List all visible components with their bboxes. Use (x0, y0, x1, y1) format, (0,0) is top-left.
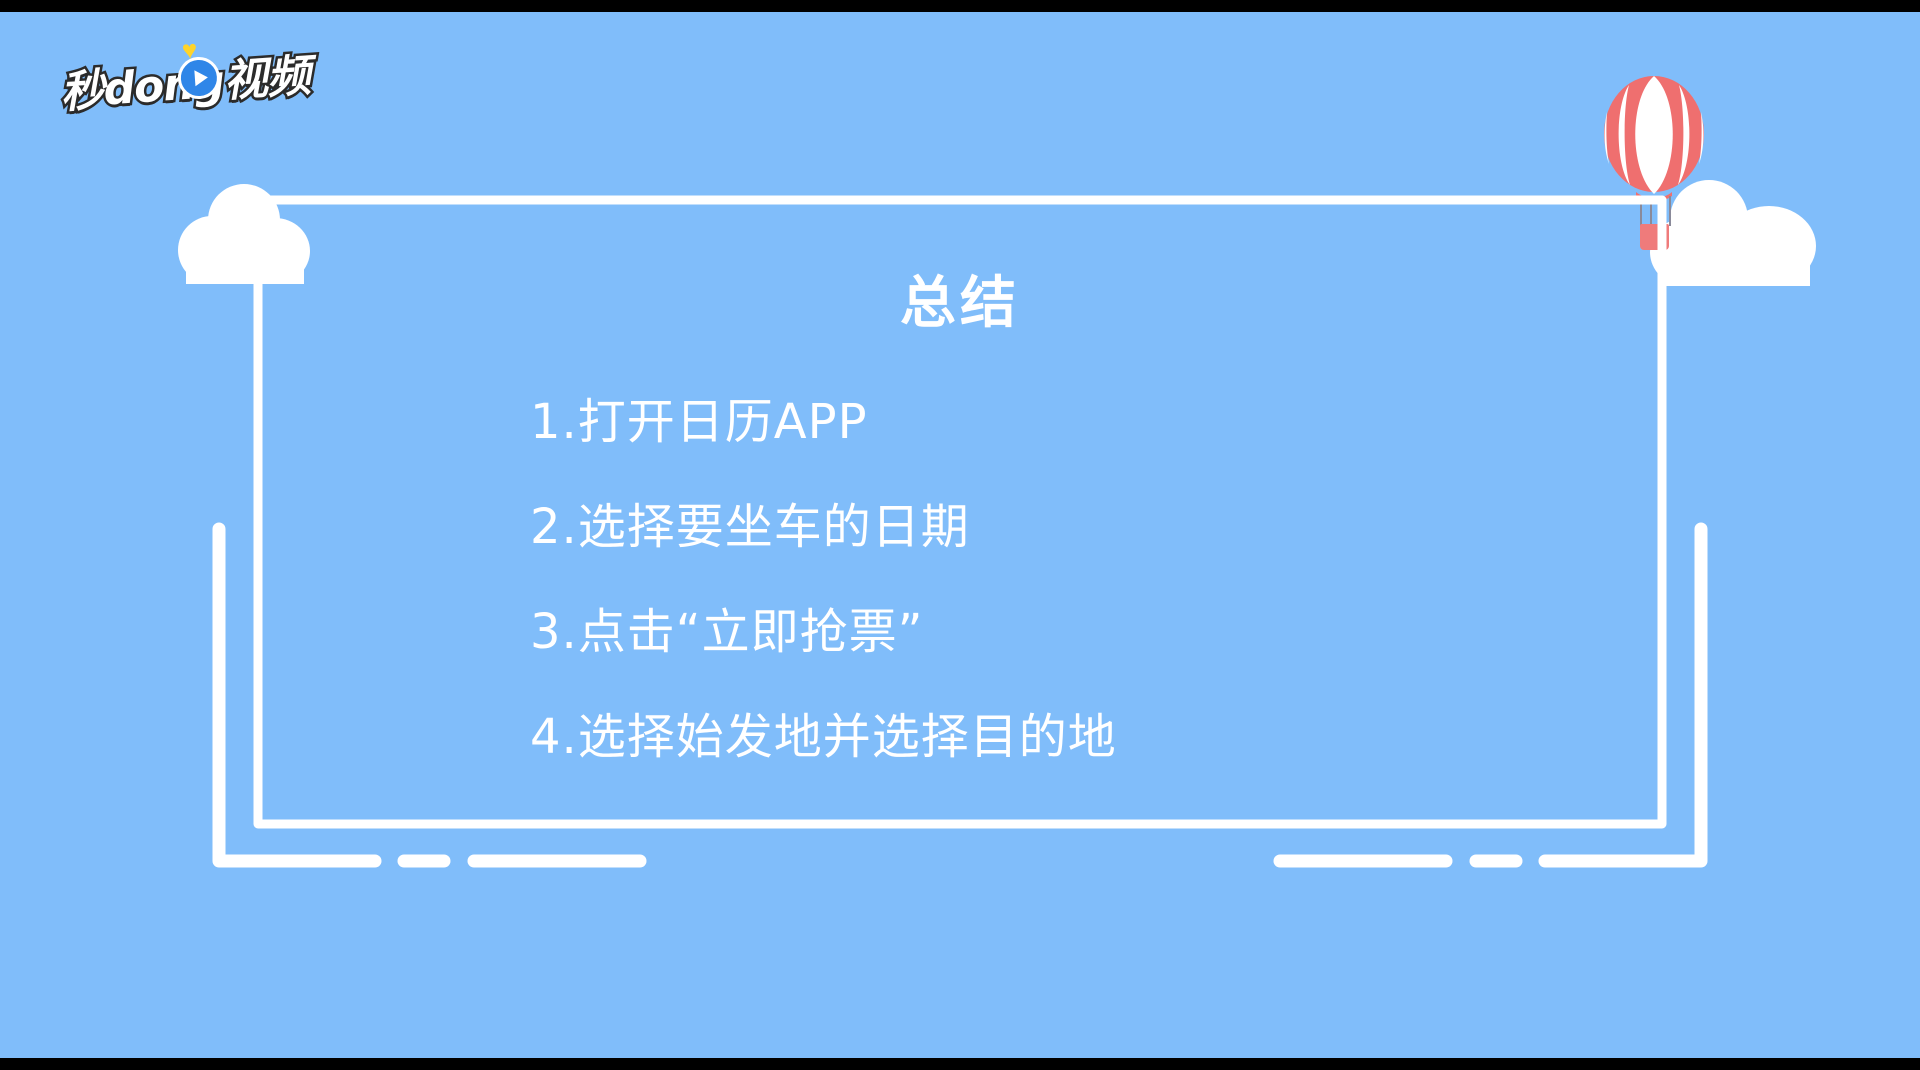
letterbox-bottom (0, 1058, 1920, 1070)
list-item: 2.选择要坐车的日期 (530, 475, 1530, 580)
slide-background: 总结 1.打开日历APP 2.选择要坐车的日期 3.点击“立即抢票” 4.选择始… (0, 12, 1920, 1058)
summary-list: 1.打开日历APP 2.选择要坐车的日期 3.点击“立即抢票” 4.选择始发地并… (530, 370, 1530, 790)
list-item: 4.选择始发地并选择目的地 (530, 685, 1530, 790)
video-frame: 总结 1.打开日历APP 2.选择要坐车的日期 3.点击“立即抢票” 4.选择始… (0, 0, 1920, 1070)
list-item: 3.点击“立即抢票” (530, 580, 1530, 685)
letterbox-top (0, 0, 1920, 12)
slide-content: 总结 1.打开日历APP 2.选择要坐车的日期 3.点击“立即抢票” 4.选择始… (0, 12, 1920, 1058)
page-title: 总结 (0, 258, 1920, 339)
list-item: 1.打开日历APP (530, 370, 1530, 475)
heart-icon: ♥ (181, 36, 209, 62)
